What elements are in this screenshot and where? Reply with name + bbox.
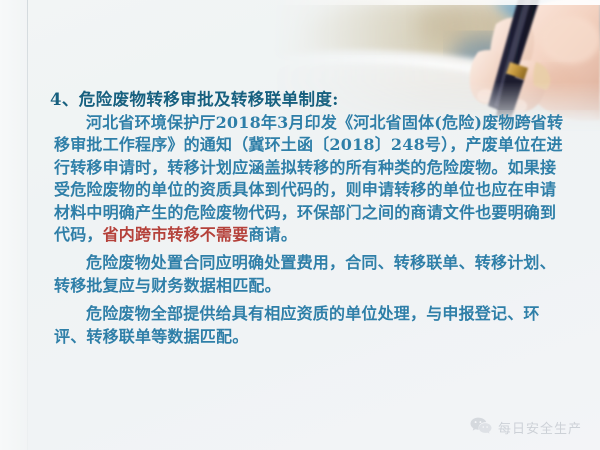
watermark: 每日安全生产 bbox=[470, 417, 582, 438]
paragraph-1-highlight: 省内跨市转移不需要 bbox=[103, 225, 249, 244]
paragraph-3: 危险废物全部提供给具有相应资质的单位处理，与申报登记、环评、转移联单等数据匹配。 bbox=[30, 303, 570, 348]
wechat-icon bbox=[470, 417, 492, 438]
paragraph-1: 河北省环境保护厅2018年3月印发《河北省固体(危险)废物跨省转移审批工作程序》… bbox=[30, 112, 570, 246]
slide-body: 河北省环境保护厅2018年3月印发《河北省固体(危险)废物跨省转移审批工作程序》… bbox=[30, 112, 570, 348]
paragraph-2: 危险废物处置合同应明确处置费用，合同、转移联单、转移计划、转移批复应与财务数据相… bbox=[30, 252, 570, 297]
paragraph-1-run-3: 商请。 bbox=[248, 225, 297, 244]
paragraph-2-run-1: 危险废物处置合同应明确处置费用，合同、转移联单、转移计划、转移批复应与财务数据相… bbox=[54, 253, 556, 294]
presentation-slide: 4、危险废物转移审批及转移联单制度: 河北省环境保护厅2018年3月印发《河北省… bbox=[0, 0, 600, 450]
slide-heading: 4、危险废物转移审批及转移联单制度: bbox=[50, 86, 339, 110]
slide-content: 4、危险废物转移审批及转移联单制度: 河北省环境保护厅2018年3月印发《河北省… bbox=[0, 0, 600, 450]
watermark-label: 每日安全生产 bbox=[498, 418, 582, 437]
paragraph-3-run-1: 危险废物全部提供给具有相应资质的单位处理，与申报登记、环评、转移联单等数据匹配。 bbox=[54, 304, 540, 345]
